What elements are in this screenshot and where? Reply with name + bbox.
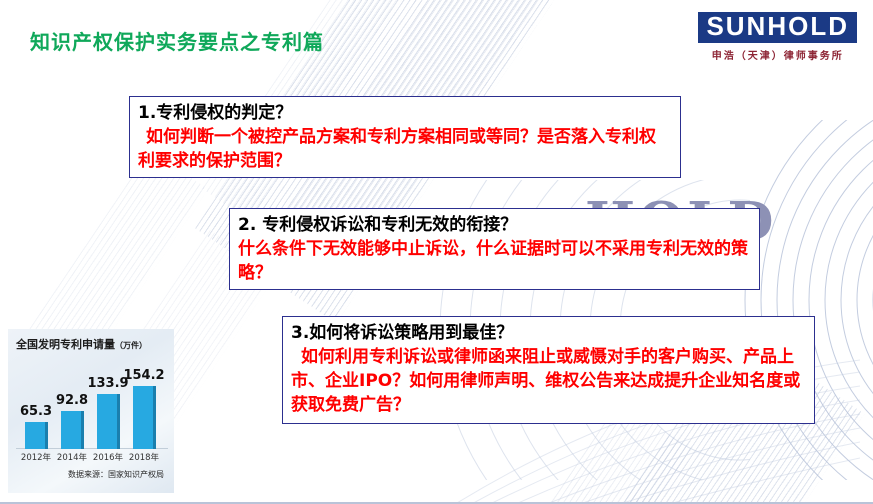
chart-bar-column: 133.9	[96, 357, 120, 449]
chart-title-text: 全国发明专利申请量	[16, 338, 115, 351]
patent-application-chart: 全国发明专利申请量（万件） 65.392.8133.9154.2 2012年20…	[8, 329, 174, 493]
question-box-3: 3.如何将诉讼策略用到最佳？ 如何利用专利诉讼或律师函来阻止或威慑对手的客户购买…	[282, 316, 815, 424]
question-detail: 如何利用专利诉讼或律师函来阻止或威慑对手的客户购买、产品上市、企业IPO？如何用…	[291, 345, 806, 417]
chart-bar-column: 65.3	[24, 357, 48, 449]
chart-unit-label: （万件）	[115, 341, 147, 350]
chart-bar-column: 154.2	[132, 357, 156, 449]
chart-x-tick-label: 2018年	[127, 451, 161, 463]
chart-x-tick-label: 2014年	[55, 451, 89, 463]
question-heading: 3.如何将诉讼策略用到最佳？	[291, 321, 806, 345]
question-box-1: 1.专利侵权的判定？ 如何判断一个被控产品方案和专利方案相同或等同？是否落入专利…	[129, 96, 681, 178]
question-heading: 2. 专利侵权诉讼和专利无效的衔接？	[238, 213, 751, 237]
chart-bar-value-label: 65.3	[20, 404, 52, 419]
logo-subtitle: 申浩（天津）律师事务所	[698, 47, 857, 62]
company-logo: SUNHOLD 申浩（天津）律师事务所	[698, 12, 857, 62]
slide: HOLD OFFICE 知识产权保护实务要点之专利篇 SUNHOLD 申浩（天津…	[0, 0, 873, 504]
chart-bar	[25, 422, 48, 449]
logo-wordmark: SUNHOLD	[698, 12, 857, 43]
question-detail: 什么条件下无效能够中止诉讼，什么证据时可以不采用专利无效的策略？	[238, 237, 751, 285]
page-title: 知识产权保护实务要点之专利篇	[30, 26, 324, 55]
chart-x-tick-label: 2016年	[91, 451, 125, 463]
chart-title: 全国发明专利申请量（万件）	[16, 336, 168, 352]
chart-source-note: 数据来源：国家知识产权局	[16, 469, 168, 480]
chart-x-axis-labels: 2012年2014年2016年2018年	[16, 451, 168, 465]
chart-bar	[97, 394, 120, 449]
question-detail: 如何判断一个被控产品方案和专利方案相同或等同？是否落入专利权利要求的保护范围？	[138, 125, 672, 173]
chart-x-tick-label: 2012年	[19, 451, 53, 463]
chart-bar-value-label: 154.2	[123, 368, 164, 383]
chart-bar-value-label: 92.8	[56, 393, 88, 408]
chart-bar-value-label: 133.9	[87, 376, 128, 391]
chart-bar	[133, 386, 156, 449]
question-heading: 1.专利侵权的判定？	[138, 101, 672, 125]
concentric-arcs-decoration	[653, 120, 873, 480]
chart-plot-area: 65.392.8133.9154.2	[16, 357, 168, 449]
chart-bar	[61, 411, 84, 449]
question-box-2: 2. 专利侵权诉讼和专利无效的衔接？ 什么条件下无效能够中止诉讼，什么证据时可以…	[229, 208, 760, 290]
chart-bar-column: 92.8	[60, 357, 84, 449]
